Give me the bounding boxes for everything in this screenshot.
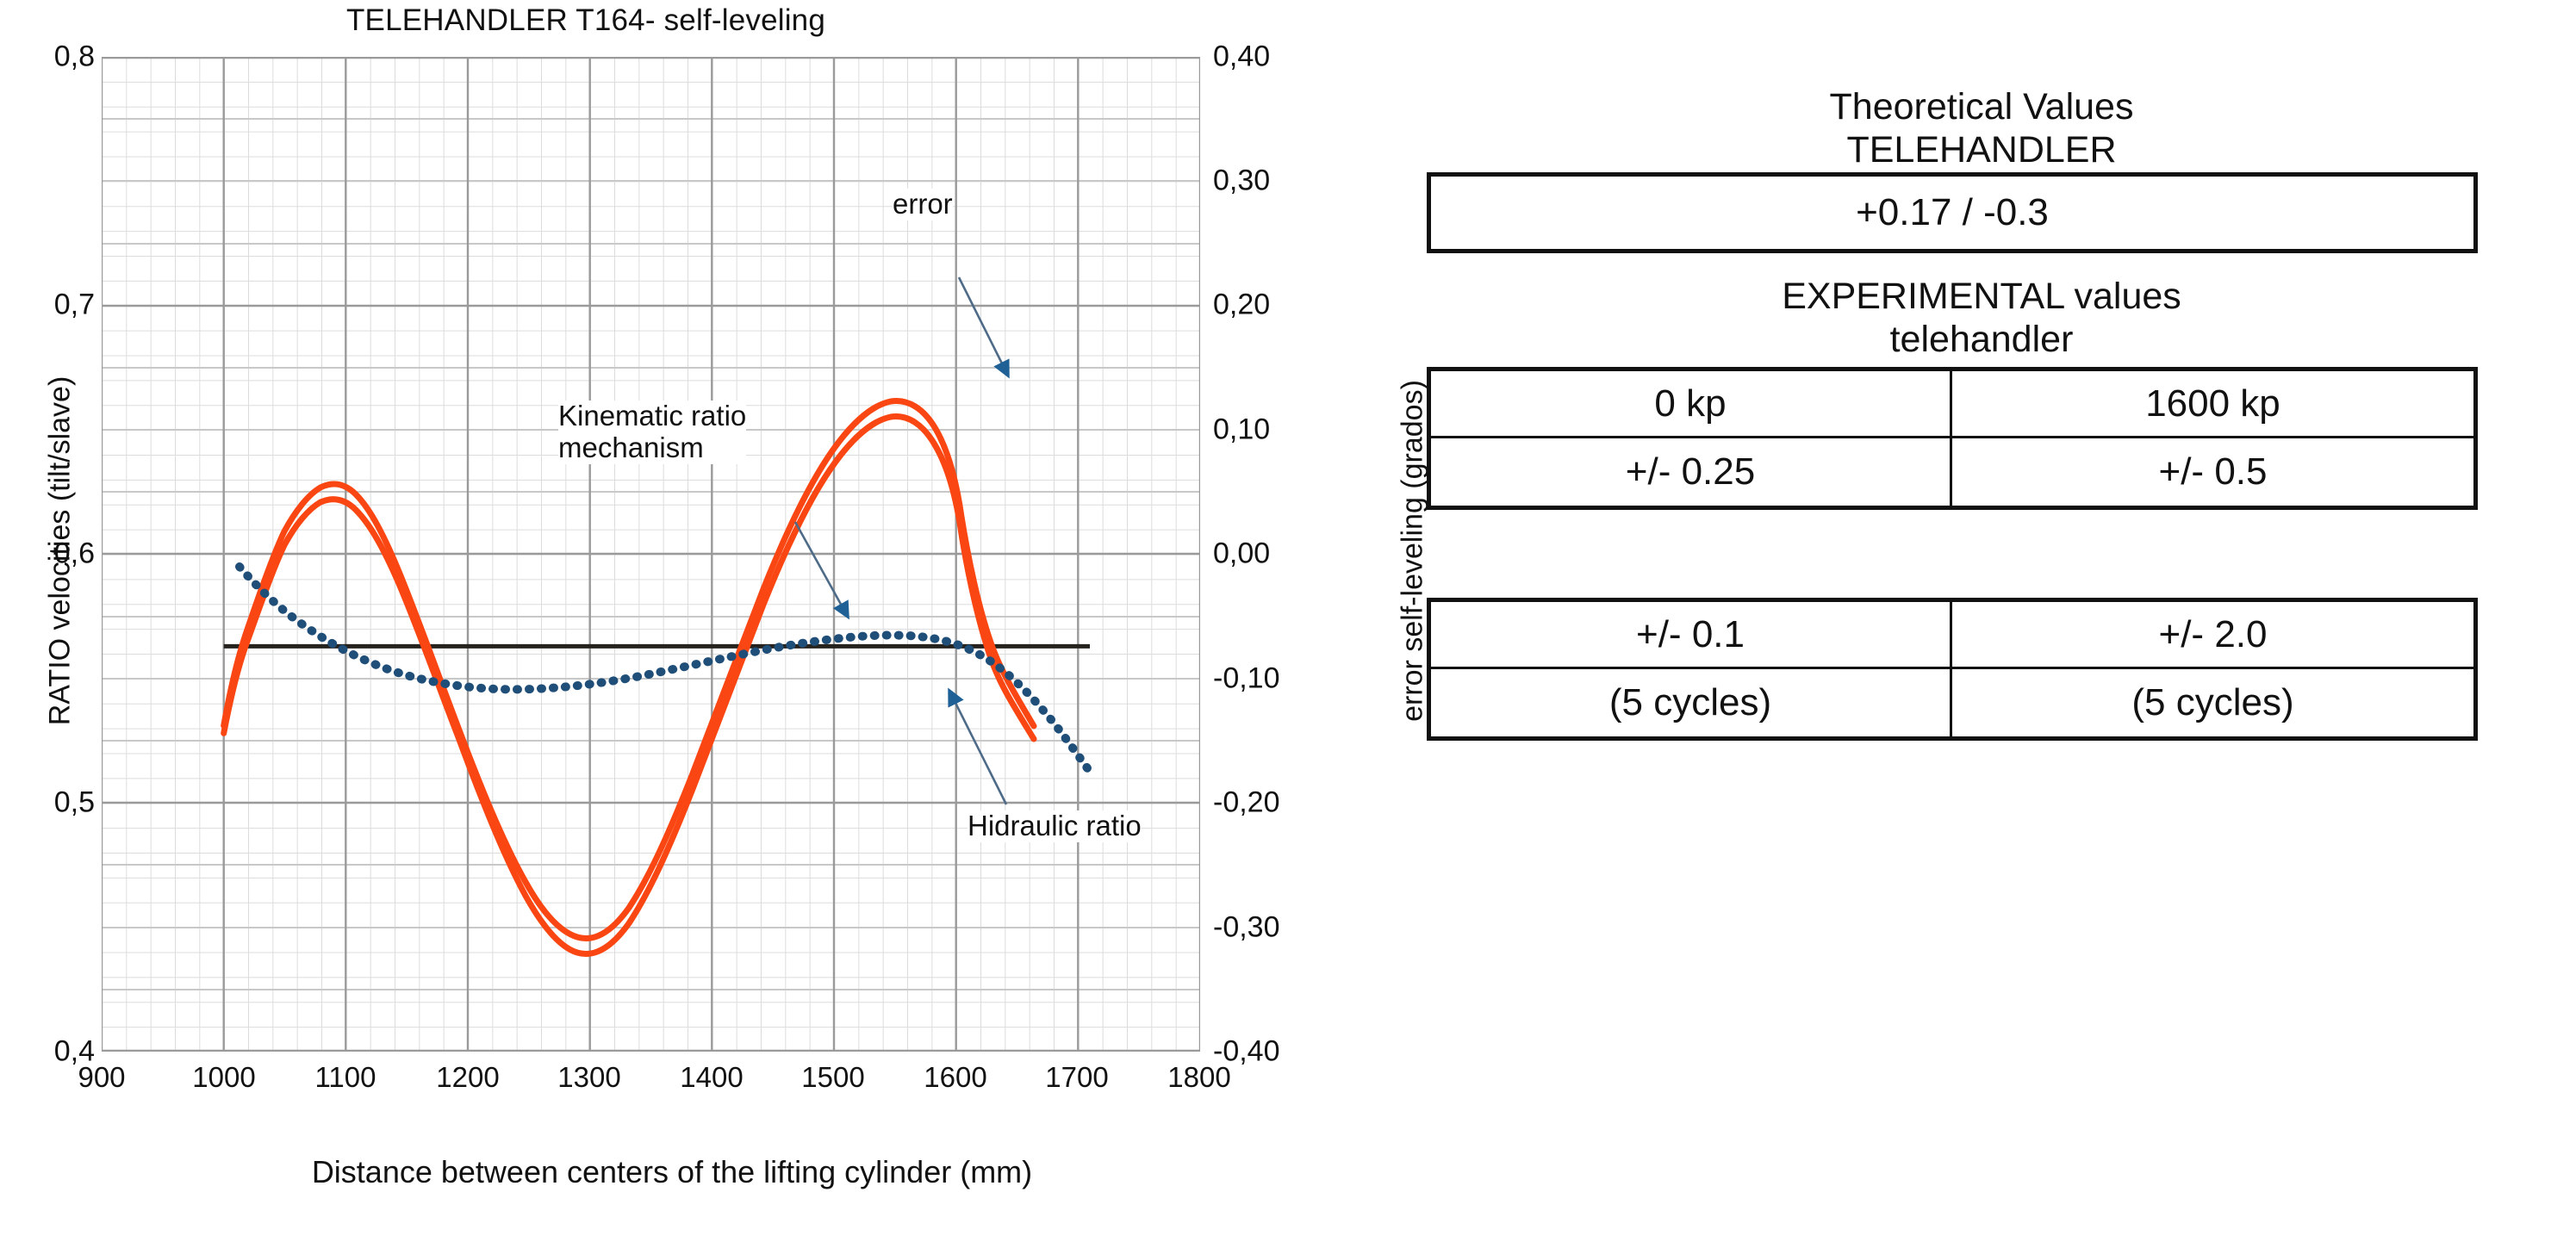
y-axis-right-tick: 0,40 [1213, 40, 1334, 74]
plot-area: error Kinematic ratio mechanism Hidrauli… [102, 57, 1200, 1052]
x-axis-tick: 1000 [192, 1061, 255, 1094]
x-axis-title: Distance between centers of the lifting … [69, 1154, 1275, 1190]
x-axis-tick: 1100 [315, 1061, 376, 1094]
x-axis-tick: 1400 [680, 1061, 743, 1094]
experimental-values-table: 0 kp 1600 kp +/- 0.25 +/- 0.5 [1427, 367, 2478, 510]
annotation-kinematic: Kinematic ratio mechanism [558, 400, 746, 464]
table-cell: 1600 kp [1952, 371, 2473, 438]
y-axis-right-tick: -0,40 [1213, 1035, 1334, 1069]
experimental-values-heading: EXPERIMENTAL values telehandler [1473, 276, 2490, 362]
table-cell: +/- 2.0 [1952, 602, 2473, 669]
y-axis-left-tick: 0,8 [12, 40, 95, 74]
y-axis-right-tick: -0,10 [1213, 662, 1334, 696]
x-axis-tick: 1300 [557, 1061, 620, 1094]
x-axis-tick: 1200 [436, 1061, 499, 1094]
table-cell: +/- 0.5 [1952, 438, 2473, 506]
page-root: TELEHANDLER T164- self-leveling 0,8 0,7 … [0, 0, 2576, 1248]
annotation-error: error [893, 189, 953, 220]
theoretical-values-box: +0.17 / -0.3 [1427, 172, 2478, 253]
x-axis-tick: 1600 [924, 1061, 986, 1094]
plot-svg [102, 57, 1200, 1052]
chart-pane: TELEHANDLER T164- self-leveling 0,8 0,7 … [0, 0, 1396, 1248]
x-axis-tick: 1800 [1167, 1061, 1230, 1094]
x-axis-tick: 1500 [801, 1061, 864, 1094]
x-axis-tick: 900 [78, 1061, 125, 1094]
y-axis-right-tick: 0,30 [1213, 165, 1334, 198]
cycles-table: +/- 0.1 +/- 2.0 (5 cycles) (5 cycles) [1427, 598, 2478, 741]
y-axis-right-tick: -0,20 [1213, 786, 1334, 820]
table-cell: (5 cycles) [1431, 669, 1952, 736]
tables-pane: Theoretical Values TELEHANDLER +0.17 / -… [1396, 0, 2576, 1248]
x-axis-tick: 1700 [1045, 1061, 1108, 1094]
table-cell: 0 kp [1431, 371, 1952, 438]
y-axis-right-tick: 0,00 [1213, 537, 1334, 571]
theoretical-values-heading: Theoretical Values TELEHANDLER [1473, 86, 2490, 172]
annotation-hidraulic: Hidraulic ratio [968, 810, 1142, 842]
y-axis-right-tick: 0,20 [1213, 289, 1334, 322]
y-axis-right-tick: -0,30 [1213, 911, 1334, 945]
y-axis-left-title: RATIO velocities (tilt/slave) [44, 276, 78, 827]
table-cell: +/- 0.1 [1431, 602, 1952, 669]
table-cell: (5 cycles) [1952, 669, 2473, 736]
theoretical-values-cell: +0.17 / -0.3 [1856, 191, 2049, 234]
table-cell: +/- 0.25 [1431, 438, 1952, 506]
y-axis-right-tick: 0,10 [1213, 413, 1334, 447]
chart-title: TELEHANDLER T164- self-leveling [0, 3, 1172, 38]
